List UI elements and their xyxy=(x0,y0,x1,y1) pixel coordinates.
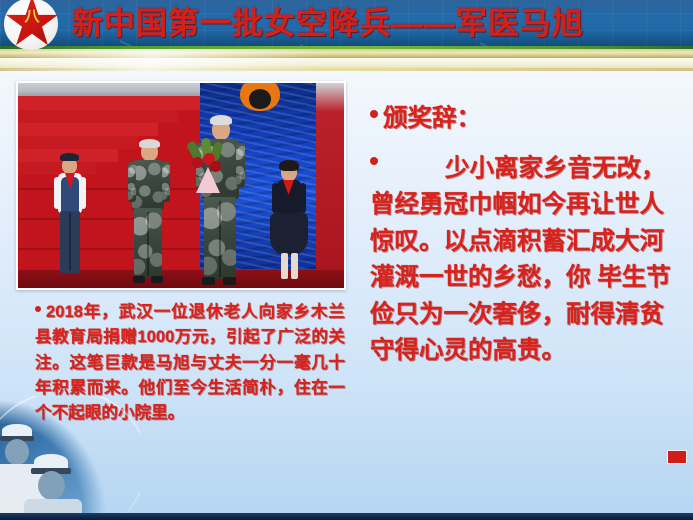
girl-leg xyxy=(281,253,288,279)
stair-step xyxy=(18,123,158,136)
slide-canvas: 新中国第一批女空降兵——军医马旭 八 xyxy=(0,0,693,520)
award-citation-heading: 颁奖辞： xyxy=(383,105,481,132)
husband-arm xyxy=(236,143,245,187)
ma-xu-leg-gap xyxy=(147,212,149,276)
photo-red-stairs xyxy=(18,96,200,288)
header-gold-rule xyxy=(0,68,693,71)
ma-xu-arm xyxy=(162,162,170,202)
page-title: 新中国第一批女空降兵——军医马旭 xyxy=(72,5,672,45)
bullet-icon xyxy=(35,306,41,312)
header-gold-band xyxy=(0,49,693,58)
boy-arm xyxy=(54,177,60,209)
boy-leg-gap xyxy=(69,213,71,271)
husband-leg-gap xyxy=(219,201,221,277)
photo-person-ma-xu xyxy=(128,140,170,284)
husband-shoe xyxy=(223,277,236,285)
photo-bouquet xyxy=(186,139,226,197)
bullet-icon xyxy=(370,110,378,118)
award-citation-block: 颁奖辞： 少小离家乡音无改，曾经勇冠巾帼如今再让世人惊叹。以点滴积蓄汇成大河灌溉… xyxy=(370,101,688,370)
stair-step xyxy=(18,96,200,110)
bullet-icon xyxy=(370,157,378,165)
stair-edge xyxy=(18,218,200,220)
photo-person-boy xyxy=(52,153,88,281)
watermark-arc xyxy=(0,396,140,520)
stair-step xyxy=(18,110,178,123)
soldiers-watermark xyxy=(0,396,140,520)
award-citation-text: 少小离家乡音无改，曾经勇冠巾帼如今再让世人惊叹。以点滴积蓄汇成大河灌溉一世的乡愁… xyxy=(370,155,671,365)
stair-step xyxy=(18,136,138,149)
husband-white-hair xyxy=(210,115,232,125)
ma-xu-shoe xyxy=(151,276,163,283)
photo-right-wall xyxy=(316,83,344,288)
stage-photo xyxy=(16,81,346,290)
bouquet-rose xyxy=(210,161,221,172)
husband-shoe xyxy=(202,277,215,285)
award-citation-heading-row: 颁奖辞： xyxy=(370,101,688,138)
bouquet-rose xyxy=(192,157,203,168)
boy-cap xyxy=(60,153,79,161)
ma-xu-arm xyxy=(128,162,136,202)
stair-edge xyxy=(18,188,200,190)
ma-xu-white-hair xyxy=(139,139,160,148)
corner-flag-icon xyxy=(667,450,687,464)
stair-edge xyxy=(18,248,200,250)
girl-hair xyxy=(279,160,299,171)
ma-xu-shoe xyxy=(133,276,145,283)
photo-content xyxy=(18,83,344,288)
award-citation-body-row: 少小离家乡音无改，曾经勇冠巾帼如今再让世人惊叹。以点滴积蓄汇成大河灌溉一世的乡愁… xyxy=(370,151,688,370)
photo-heart-graphic xyxy=(240,83,280,111)
girl-arm xyxy=(300,183,306,213)
header-cream-band xyxy=(0,58,693,68)
girl-skirt xyxy=(270,213,308,255)
girl-arm xyxy=(272,183,278,213)
boy-arm xyxy=(80,177,86,209)
photo-person-girl xyxy=(270,161,308,285)
girl-leg xyxy=(291,253,298,279)
ma-xu-camo-jacket xyxy=(132,160,164,210)
bottom-edge-bar xyxy=(0,513,693,520)
pla-star-icon: 八 xyxy=(1,0,63,53)
emblem-ba-character: 八 xyxy=(1,5,63,26)
